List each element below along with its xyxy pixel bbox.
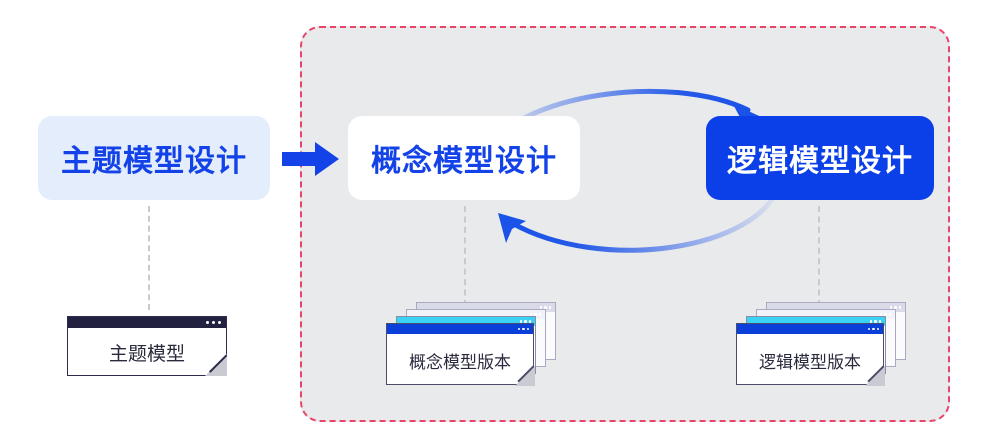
stack-sheet-front: 逻辑模型版本 — [736, 323, 884, 385]
stage-box-theme-label: 主题模型设计 — [61, 136, 247, 180]
artifact-theme-doc-window: 主题模型 — [67, 316, 227, 376]
stage-box-concept[interactable]: 概念模型设计 — [348, 116, 580, 200]
artifact-theme-doc-label: 主题模型 — [68, 328, 226, 377]
window-titlebar — [737, 324, 883, 334]
stage-box-logical-label: 逻辑模型设计 — [727, 136, 913, 180]
window-dot-icon — [549, 306, 552, 309]
artifact-concept-doc-stack[interactable]: 概念模型版本 — [386, 302, 558, 388]
artifact-theme-doc[interactable]: 主题模型 — [67, 316, 227, 376]
window-dot-icon — [872, 328, 875, 331]
window-dot-icon — [868, 328, 871, 331]
stage-box-concept-label: 概念模型设计 — [371, 136, 557, 180]
dashed-connector-theme — [148, 206, 150, 310]
artifact-logical-doc-label: 逻辑模型版本 — [737, 334, 883, 386]
dashed-connector-logical — [818, 206, 820, 306]
window-dot-icon — [212, 321, 215, 324]
window-titlebar — [68, 317, 226, 328]
theme-to-concept-arrow-shape — [282, 142, 339, 176]
window-dot-icon — [522, 328, 525, 331]
stack-sheet-front: 概念模型版本 — [386, 323, 534, 385]
window-dot-icon — [518, 328, 521, 331]
window-dot-icon — [527, 328, 530, 331]
stage-box-logical[interactable]: 逻辑模型设计 — [706, 116, 934, 200]
window-dot-icon — [877, 328, 880, 331]
artifact-logical-doc-stack[interactable]: 逻辑模型版本 — [736, 302, 908, 388]
diagram-canvas: 主题模型设计 概念模型设计 逻辑模型设计 主题模型 — [0, 0, 1000, 443]
window-dot-icon — [206, 321, 209, 324]
artifact-concept-doc-label: 概念模型版本 — [387, 334, 533, 386]
window-dot-icon — [218, 321, 221, 324]
window-titlebar — [387, 324, 533, 334]
window-dot-icon — [899, 306, 902, 309]
theme-to-concept-arrow — [282, 140, 340, 178]
window-dot-icon — [889, 313, 892, 316]
stage-box-theme[interactable]: 主题模型设计 — [38, 116, 270, 200]
window-dot-icon — [539, 313, 542, 316]
